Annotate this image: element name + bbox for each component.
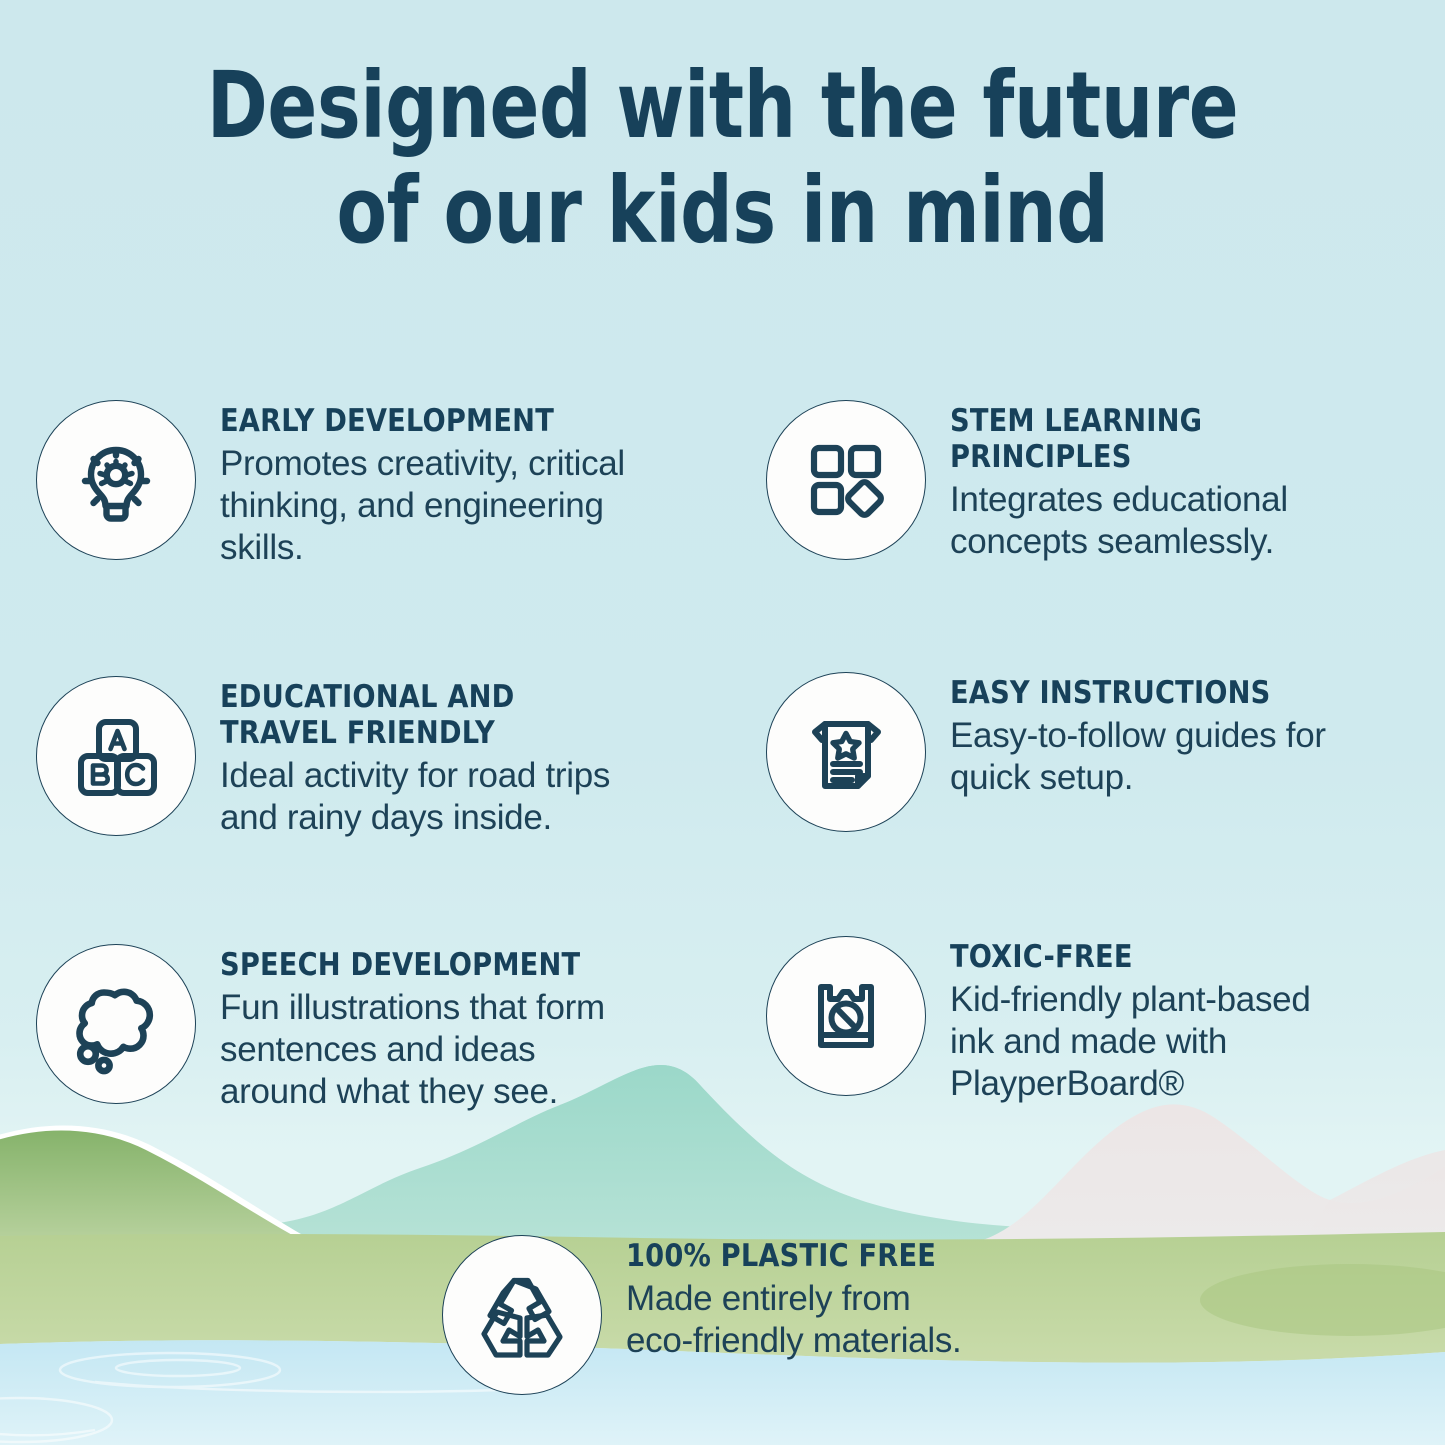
- feature-body: Easy-to-follow guides for quick setup.: [950, 715, 1326, 799]
- feature-easy-instructions[interactable]: EASY INSTRUCTIONS Easy-to-follow guides …: [766, 672, 1326, 832]
- feature-title: EASY INSTRUCTIONS: [950, 676, 1281, 712]
- feature-text: EARLY DEVELOPMENT Promotes creativity, c…: [220, 400, 625, 569]
- feature-educational-travel-friendly[interactable]: EDUCATIONAL AND TRAVEL FRIENDLY Ideal ac…: [36, 676, 610, 839]
- icon-badge: [36, 400, 196, 560]
- feature-text: SPEECH DEVELOPMENT Fun illustrations tha…: [220, 944, 629, 1113]
- recycle-icon: [470, 1263, 574, 1367]
- feature-body: Kid-friendly plant-based ink and made wi…: [950, 979, 1311, 1105]
- thought-bubble-icon: [62, 970, 170, 1078]
- feature-body: Fun illustrations that form sentences an…: [220, 987, 629, 1113]
- feature-body: Promotes creativity, critical thinking, …: [220, 443, 625, 569]
- feature-text: TOXIC-FREE Kid-friendly plant-based ink …: [950, 936, 1311, 1105]
- features-grid: EARLY DEVELOPMENT Promotes creativity, c…: [0, 0, 1445, 1445]
- feature-speech-development[interactable]: SPEECH DEVELOPMENT Fun illustrations tha…: [36, 944, 629, 1113]
- infographic-poster: Designed with the future of our kids in …: [0, 0, 1445, 1445]
- certificate-star-icon: [796, 702, 896, 802]
- feature-text: STEM LEARNING PRINCIPLES Integrates educ…: [950, 400, 1445, 563]
- feature-title: EARLY DEVELOPMENT: [220, 404, 576, 440]
- feature-title: SPEECH DEVELOPMENT: [220, 948, 580, 984]
- feature-body: Ideal activity for road trips and rainy …: [220, 755, 610, 839]
- icon-badge: [36, 676, 196, 836]
- feature-title: 100% PLASTIC FREE: [626, 1239, 936, 1275]
- feature-text: EASY INSTRUCTIONS Easy-to-follow guides …: [950, 672, 1326, 799]
- feature-plastic-free[interactable]: 100% PLASTIC FREE Made entirely from eco…: [442, 1235, 978, 1395]
- icon-badge: [766, 400, 926, 560]
- feature-title: EDUCATIONAL AND TRAVEL FRIENDLY: [220, 680, 563, 752]
- feature-body: Integrates educational concepts seamless…: [950, 479, 1445, 563]
- feature-title: TOXIC-FREE: [950, 940, 1267, 976]
- feature-text: EDUCATIONAL AND TRAVEL FRIENDLY Ideal ac…: [220, 676, 610, 839]
- lightbulb-gear-icon: [64, 428, 168, 532]
- feature-title: STEM LEARNING PRINCIPLES: [950, 404, 1386, 476]
- feature-early-development[interactable]: EARLY DEVELOPMENT Promotes creativity, c…: [36, 400, 625, 569]
- feature-body: Made entirely from eco-friendly material…: [626, 1278, 978, 1362]
- icon-badge: [766, 672, 926, 832]
- abc-blocks-icon: [64, 704, 168, 808]
- icon-badge: [442, 1235, 602, 1395]
- icon-badge: [766, 936, 926, 1096]
- no-plastic-bag-icon: [797, 967, 895, 1065]
- feature-text: 100% PLASTIC FREE Made entirely from eco…: [626, 1235, 978, 1362]
- shapes-blocks-icon: [796, 430, 896, 530]
- feature-toxic-free[interactable]: TOXIC-FREE Kid-friendly plant-based ink …: [766, 936, 1311, 1105]
- feature-stem-learning-principles[interactable]: STEM LEARNING PRINCIPLES Integrates educ…: [766, 400, 1445, 563]
- icon-badge: [36, 944, 196, 1104]
